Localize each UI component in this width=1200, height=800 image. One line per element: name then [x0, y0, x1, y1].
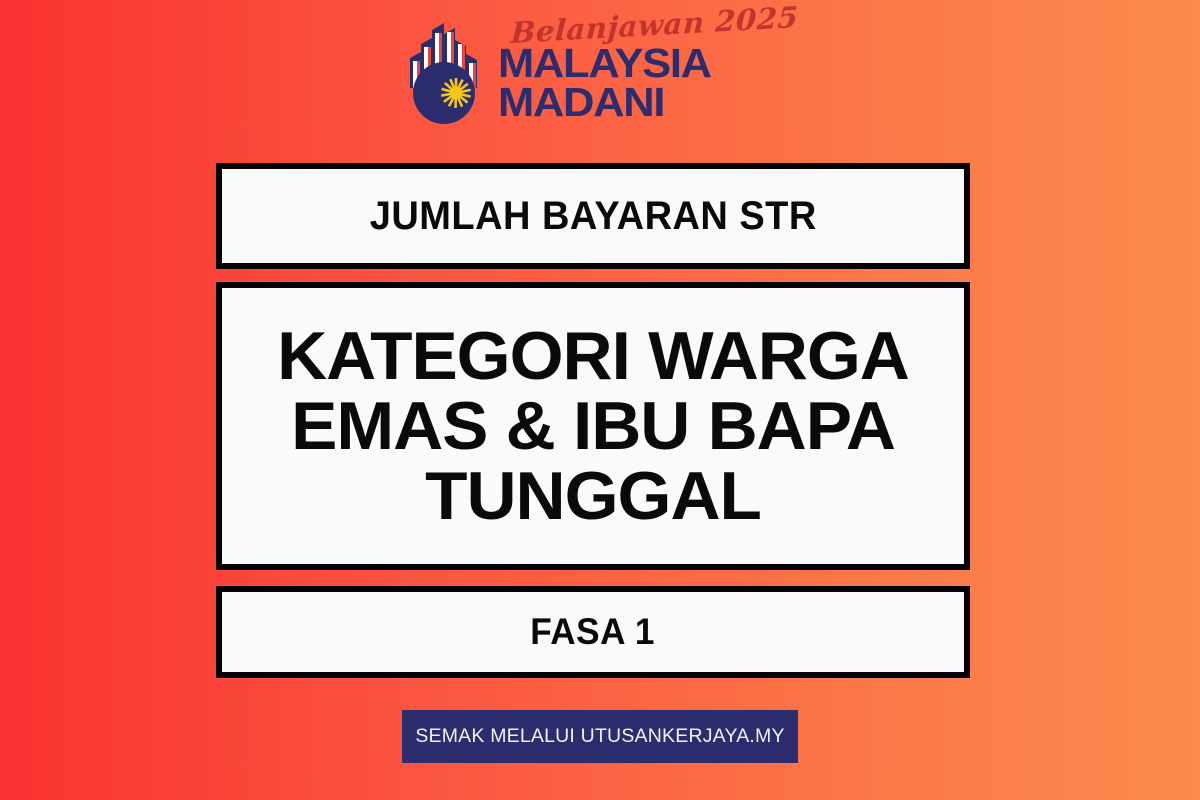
footer-cta-text: SEMAK MELALUI UTUSANKERJAYA.MY	[415, 725, 784, 748]
malaysia-madani-logo: Belanjawan 2025 MALAYSIA MADANI	[0, 14, 1200, 134]
poster-canvas: Belanjawan 2025 MALAYSIA MADANI JUMLAH B…	[0, 0, 1200, 800]
malaysia-madani-logo-mark	[404, 14, 490, 126]
headline-panel: KATEGORI WARGA EMAS & IBU BAPA TUNGGAL	[216, 282, 970, 570]
footer-banner[interactable]: SEMAK MELALUI UTUSANKERJAYA.MY	[402, 710, 798, 763]
logo-word-malaysia: MALAYSIA	[498, 44, 711, 83]
phase-text: FASA 1	[531, 611, 656, 653]
headline-text: KATEGORI WARGA EMAS & IBU BAPA TUNGGAL	[215, 321, 972, 531]
subtitle-text: JUMLAH BAYARAN STR	[369, 194, 816, 239]
logo-word-madani: MADANI	[498, 83, 664, 122]
subtitle-panel: JUMLAH BAYARAN STR	[216, 163, 970, 269]
logo-wordmark: Belanjawan 2025 MALAYSIA MADANI	[498, 16, 796, 121]
phase-panel: FASA 1	[216, 586, 970, 678]
